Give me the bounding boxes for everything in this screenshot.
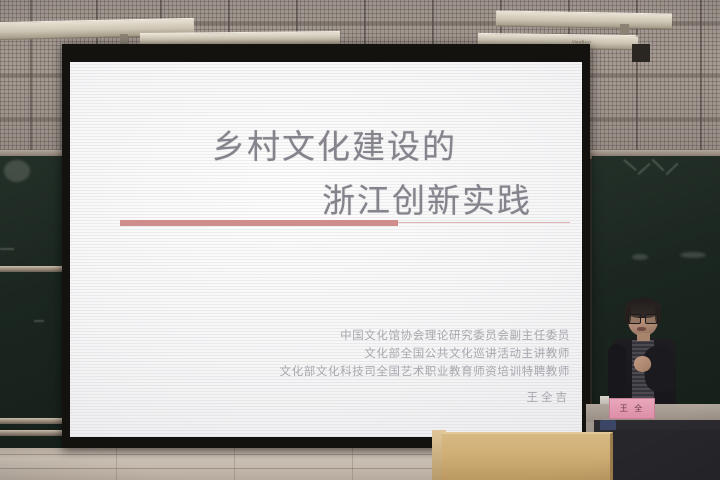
blue-bag <box>600 420 616 430</box>
name-placard: 王 全 <box>609 398 655 419</box>
screen-surface: 乡村文化建设的 浙江创新实践 中国文化馆协会理论研究委员会副主任委员 文化部全国… <box>70 62 582 437</box>
credit-line-1: 中国文化馆协会理论研究委员会副主任委员 <box>70 326 570 344</box>
title-underline-thick <box>120 220 398 226</box>
presenter-figure <box>606 300 682 410</box>
chalk-smudge <box>4 160 30 182</box>
chalk-smudge <box>632 254 648 260</box>
screen-mount-bracket <box>632 44 650 62</box>
dark-desk-panel <box>612 430 720 480</box>
chalk-mark <box>0 248 14 250</box>
presenter-neck <box>637 333 650 341</box>
chalk-mark <box>652 159 665 172</box>
glasses-lens <box>628 314 641 324</box>
presenter-left-arm <box>608 344 626 400</box>
ceiling-light-fixture <box>496 10 672 29</box>
tile-seam <box>234 448 235 480</box>
lecture-photo-scene: ViewBest <box>0 0 720 480</box>
wooden-podium <box>442 432 613 480</box>
presentation-slide: 乡村文化建设的 浙江创新实践 中国文化馆协会理论研究委员会副主任委员 文化部全国… <box>70 62 582 437</box>
projection-screen: 乡村文化建设的 浙江创新实践 中国文化馆协会理论研究委员会副主任委员 文化部全国… <box>62 44 590 448</box>
credit-line-3: 文化部文化科技司全国艺术职业教育师资培训特聘教师 <box>70 362 570 380</box>
glasses-bridge <box>639 317 645 318</box>
chalk-mark <box>34 320 44 322</box>
presenter-mouth <box>637 327 646 331</box>
chalk-mark <box>637 163 650 175</box>
glasses-icon <box>628 314 658 322</box>
slide-title-line-1: 乡村文化建设的 <box>212 128 457 166</box>
title-underline-thin <box>398 222 570 223</box>
chalk-mark <box>666 163 679 176</box>
slide-credits-block: 中国文化馆协会理论研究委员会副主任委员 文化部全国公共文化巡讲活动主讲教师 文化… <box>70 326 570 406</box>
slide-title-line-2: 浙江创新实践 <box>322 182 532 220</box>
tile-seam <box>116 448 117 480</box>
glasses-lens <box>645 314 658 324</box>
credit-line-2: 文化部全国公共文化巡讲活动主讲教师 <box>70 344 570 362</box>
chalk-mark <box>623 159 637 171</box>
chalk-smudge <box>680 252 706 258</box>
presenter-name: 王全吉 <box>70 388 570 406</box>
tile-seam <box>352 448 353 480</box>
